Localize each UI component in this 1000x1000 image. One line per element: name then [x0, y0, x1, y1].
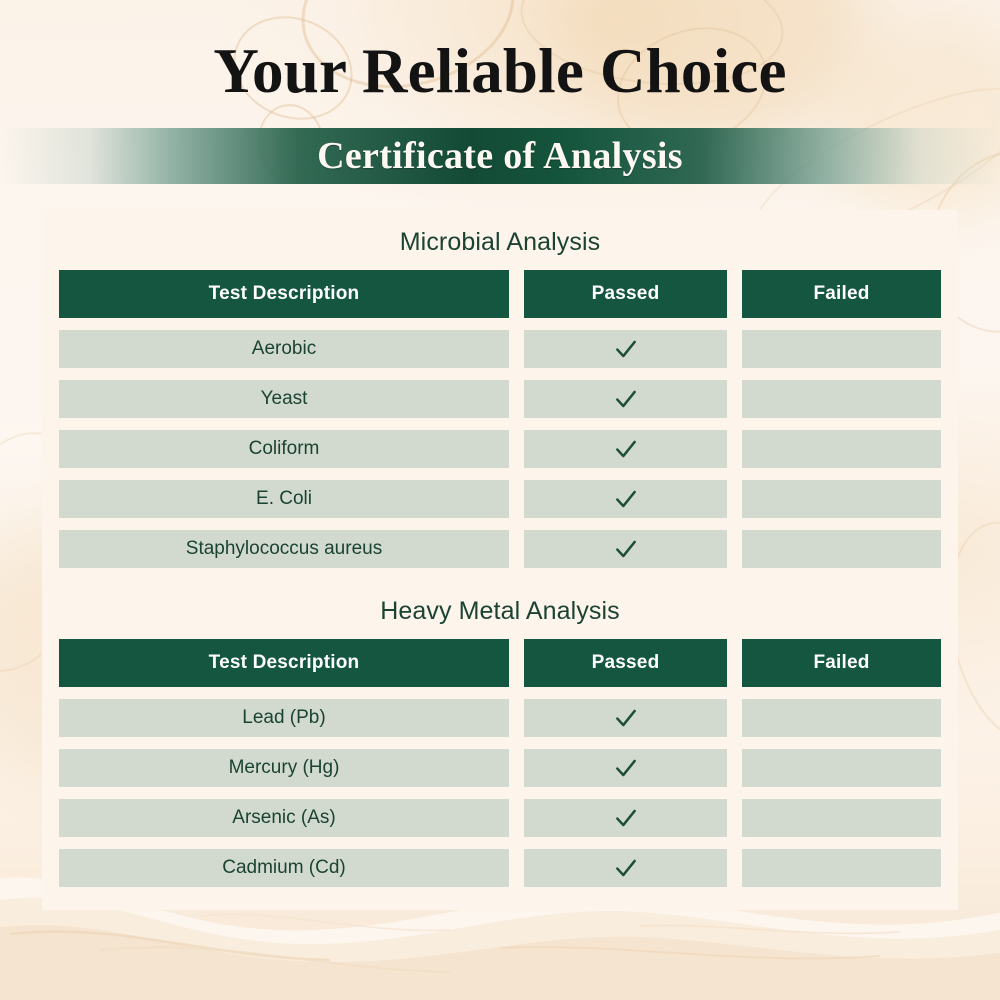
table-header-row: Test Description Passed Failed — [59, 270, 941, 318]
cell-test-description: Arsenic (As) — [59, 799, 509, 837]
column-header-passed: Passed — [524, 270, 727, 318]
checkmark-icon — [613, 436, 639, 462]
table-row: Staphylococcus aureus — [59, 530, 941, 568]
certificate-banner: Certificate of Analysis — [0, 128, 1000, 184]
cell-failed — [742, 480, 941, 518]
cell-passed — [524, 749, 727, 787]
cell-passed — [524, 699, 727, 737]
cell-failed — [742, 430, 941, 468]
checkmark-icon — [613, 486, 639, 512]
table-row: Yeast — [59, 380, 941, 418]
cell-test-description: Staphylococcus aureus — [59, 530, 509, 568]
checkmark-icon — [613, 805, 639, 831]
column-header-test-description: Test Description — [59, 639, 509, 687]
checkmark-icon — [613, 755, 639, 781]
checkmark-icon — [613, 336, 639, 362]
cell-passed — [524, 330, 727, 368]
cell-passed — [524, 849, 727, 887]
cell-test-description: Aerobic — [59, 330, 509, 368]
table-row: Mercury (Hg) — [59, 749, 941, 787]
column-header-failed: Failed — [742, 639, 941, 687]
checkmark-icon — [613, 536, 639, 562]
banner-title: Certificate of Analysis — [317, 134, 683, 178]
column-header-passed: Passed — [524, 639, 727, 687]
cell-passed — [524, 380, 727, 418]
analysis-card: Microbial Analysis Test Description Pass… — [42, 210, 958, 910]
cell-passed — [524, 430, 727, 468]
cell-test-description: Yeast — [59, 380, 509, 418]
cell-test-description: Coliform — [59, 430, 509, 468]
column-header-failed: Failed — [742, 270, 941, 318]
table-row: Arsenic (As) — [59, 799, 941, 837]
table-row: E. Coli — [59, 480, 941, 518]
cell-failed — [742, 699, 941, 737]
checkmark-icon — [613, 855, 639, 881]
cell-failed — [742, 330, 941, 368]
certificate-page: Your Reliable Choice Certificate of Anal… — [0, 0, 1000, 1000]
table-row: Cadmium (Cd) — [59, 849, 941, 887]
cell-failed — [742, 380, 941, 418]
cell-passed — [524, 530, 727, 568]
table-header-row: Test Description Passed Failed — [59, 639, 941, 687]
section-title-heavy-metal: Heavy Metal Analysis — [42, 597, 958, 626]
cell-passed — [524, 480, 727, 518]
cell-test-description: Cadmium (Cd) — [59, 849, 509, 887]
checkmark-icon — [613, 705, 639, 731]
heavy-metal-analysis-table: Test Description Passed Failed Lead (Pb)… — [59, 639, 941, 887]
page-title: Your Reliable Choice — [0, 40, 1000, 103]
table-row: Lead (Pb) — [59, 699, 941, 737]
column-header-test-description: Test Description — [59, 270, 509, 318]
cell-passed — [524, 799, 727, 837]
cell-failed — [742, 749, 941, 787]
section-title-microbial: Microbial Analysis — [42, 228, 958, 257]
cell-test-description: Mercury (Hg) — [59, 749, 509, 787]
cell-failed — [742, 530, 941, 568]
cell-failed — [742, 849, 941, 887]
table-row: Coliform — [59, 430, 941, 468]
cell-test-description: Lead (Pb) — [59, 699, 509, 737]
microbial-analysis-table: Test Description Passed Failed Aerobic Y… — [59, 270, 941, 568]
cell-test-description: E. Coli — [59, 480, 509, 518]
table-row: Aerobic — [59, 330, 941, 368]
checkmark-icon — [613, 386, 639, 412]
cell-failed — [742, 799, 941, 837]
